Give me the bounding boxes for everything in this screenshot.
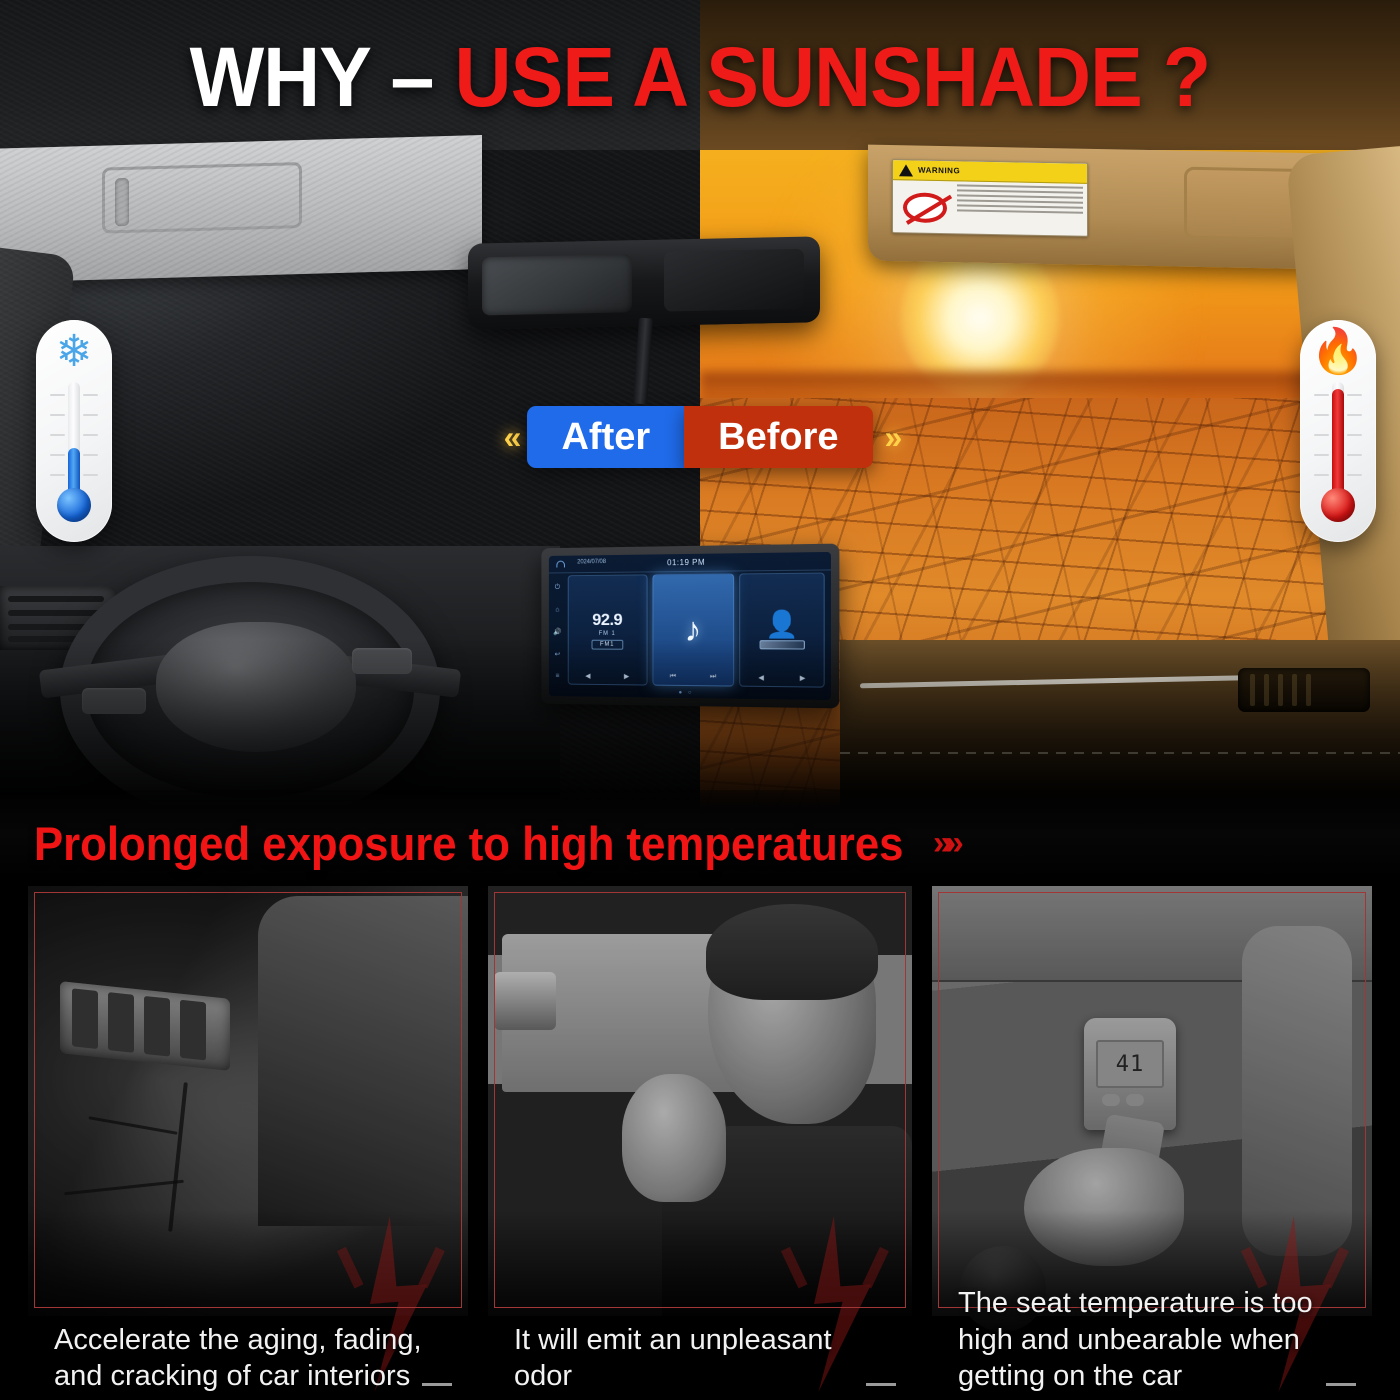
panel-odor: It will emit an unpleasant odor (488, 886, 912, 1400)
rearview-mirror (468, 236, 820, 329)
seat-next-icon[interactable]: ▶ (800, 674, 806, 682)
headliner-cool (0, 0, 700, 150)
infotainment-page-dots[interactable]: ● ○ (549, 688, 831, 698)
thermometer-bulb-hot (1321, 488, 1355, 522)
radio-prev-icon[interactable]: ◀ (585, 672, 590, 680)
steering-button-cluster-right (352, 648, 412, 674)
thermometer-buttons (1102, 1094, 1144, 1106)
infotainment-head-unit[interactable]: 2024/07/08 01:19 PM ⏻ ⌂ 🔊 ↩ ≡ 92.9 FM 1 … (541, 544, 839, 709)
media-skip-forward-icon[interactable]: ⏭ (710, 673, 716, 681)
caption-dash-1 (422, 1383, 452, 1386)
warning-label-text-lines (957, 181, 1087, 237)
mirror-glass-left (482, 254, 632, 315)
steering-button-cluster-left (82, 688, 146, 714)
music-note-icon: ♪ (685, 613, 702, 647)
mid-heading-text: Prolonged exposure to high temperatures (34, 820, 903, 867)
dashboard-vent-shape (60, 981, 230, 1071)
infotainment-status-bar: 2024/07/08 01:19 PM (549, 552, 831, 574)
air-vent-right (1238, 668, 1370, 712)
chevron-right-icon: » (885, 419, 897, 456)
steering-wheel-hub-airbag (156, 622, 356, 752)
chevron-left-icon: « (504, 419, 516, 456)
before-after-toggle[interactable]: « After Before » (0, 406, 1400, 468)
seat-arrows[interactable]: ◀ ▶ (741, 674, 824, 683)
snowflake-icon: ❄ (36, 330, 112, 374)
flame-icon: 🔥 (1300, 330, 1376, 374)
thermometer-bulb-cold (57, 488, 91, 522)
radio-band: FM 1 (599, 630, 616, 636)
infographic-page: WARNING (0, 0, 1400, 1400)
seat-prev-icon[interactable]: ◀ (758, 674, 764, 682)
media-card[interactable]: ♪ ⏮ ⏭ (652, 574, 734, 687)
radio-next-icon[interactable]: ▶ (624, 672, 629, 680)
hero-comparison-section: WARNING (0, 0, 1400, 812)
no-rear-facing-child-seat-icon (893, 180, 957, 235)
man-hair-shape (706, 904, 878, 1000)
radio-card[interactable]: 92.9 FM 1 FM1 ◀ ▶ (568, 574, 648, 685)
seat-back-shape (258, 896, 468, 1226)
panel-caption-2: It will emit an unpleasant odor (514, 1322, 892, 1395)
caption-dash-3 (1326, 1383, 1356, 1386)
visor-slot-cool (102, 162, 302, 234)
side-mirror-shape (494, 972, 556, 1030)
dashboard-right-tan (840, 640, 1400, 812)
panel-seat-temperature: 41 The seat temperature is too high and … (932, 886, 1372, 1400)
radio-frequency: 92.9 (592, 611, 622, 628)
infotainment-cards: 92.9 FM 1 FM1 ◀ ▶ ♪ ⏮ ⏭ (549, 573, 831, 688)
seat-occupant-icon: 👤 (765, 611, 798, 638)
warning-triangle-icon (899, 164, 913, 176)
chevron-right-triple-icon: »» (933, 824, 957, 863)
wifi-icon (556, 561, 564, 568)
problem-panels: Accelerate the aging, fading, and cracki… (0, 886, 1400, 1400)
panel-caption-1: Accelerate the aging, fading, and cracki… (54, 1322, 448, 1395)
panel-aging-interior: Accelerate the aging, fading, and cracki… (28, 886, 468, 1400)
media-skip-back-icon[interactable]: ⏮ (670, 673, 676, 681)
mid-heading: Prolonged exposure to high temperatures … (34, 812, 957, 874)
thermometer-display: 41 (1096, 1040, 1164, 1088)
after-label[interactable]: After (527, 406, 684, 468)
radio-preset-chip[interactable]: FM1 (591, 639, 623, 649)
mirror-glass-right (664, 249, 804, 312)
before-label[interactable]: Before (684, 406, 872, 468)
infotainment-screen[interactable]: 2024/07/08 01:19 PM ⏻ ⌂ 🔊 ↩ ≡ 92.9 FM 1 … (549, 552, 831, 700)
media-arrows[interactable]: ⏮ ⏭ (653, 673, 733, 682)
infotainment-time: 01:19 PM (667, 558, 705, 567)
warning-label-body (893, 180, 1087, 237)
visor-bar-cool (115, 178, 129, 226)
panel-caption-3: The seat temperature is too high and unb… (958, 1285, 1352, 1394)
seat-position-bar[interactable] (759, 640, 804, 649)
man-hand-shape (622, 1074, 726, 1202)
thermometer-reading: 41 (1116, 1052, 1145, 1077)
caption-dash-2 (866, 1383, 896, 1386)
seat-card[interactable]: 👤 ◀ ▶ (740, 573, 825, 688)
sun-visor-cool (0, 135, 482, 283)
warning-heading-text: WARNING (918, 166, 960, 176)
infotainment-date: 2024/07/08 (577, 559, 606, 565)
visor-warning-label: WARNING (892, 159, 1088, 237)
radio-arrows[interactable]: ◀ ▶ (569, 672, 647, 681)
infrared-thermometer-device: 41 (1084, 1018, 1176, 1130)
headliner-hot (700, 0, 1400, 150)
dashboard-stitching (840, 752, 1400, 754)
